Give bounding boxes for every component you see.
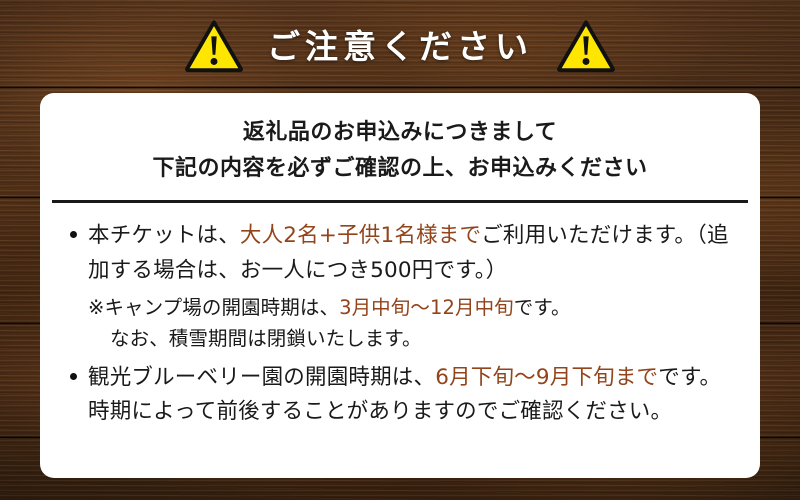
note-block: ※キャンプ場の開園時期は、3月中旬～12月中旬です。 なお、積雪期間は閉鎖いたし… (88, 293, 734, 355)
list-item-text: 観光ブルーベリー園の開園時期は、6月下旬～9月下旬までです。時期によって前後する… (88, 361, 734, 431)
card-heading-line-2: 下記の内容を必ずご確認の上、お申込みください (40, 151, 760, 187)
bullet-dot-icon (70, 231, 77, 238)
warning-triangle-icon (185, 19, 243, 73)
notice-body: 本チケットは、大人2名+子供1名様までご利用いただけます。（追加する場合は、お一… (40, 203, 760, 430)
list-item-text-pre: 本チケットは、 (88, 223, 240, 248)
bullet-dot-icon (70, 373, 77, 380)
list-item-highlight: 6月下旬～9月下旬まで (435, 365, 658, 390)
list-item-highlight: 大人2名+子供1名様まで (240, 223, 481, 248)
notice-banner: ご注意ください 返礼品のお申込みにつきまして 下記の内容を必ずご確認の上、お申込… (0, 0, 800, 500)
note-text-post: です。 (514, 296, 571, 319)
warning-triangle-icon (557, 19, 615, 73)
notice-card: 返礼品のお申込みにつきまして 下記の内容を必ずご確認の上、お申込みください 本チ… (40, 93, 760, 478)
list-item: 観光ブルーベリー園の開園時期は、6月下旬～9月下旬までです。時期によって前後する… (66, 361, 734, 431)
list-item-text-pre: 観光ブルーベリー園の開園時期は、 (88, 365, 435, 390)
card-heading: 返礼品のお申込みにつきまして 下記の内容を必ずご確認の上、お申込みください (40, 93, 760, 186)
list-item: 本チケットは、大人2名+子供1名様までご利用いただけます。（追加する場合は、お一… (66, 219, 734, 289)
note-subline: なお、積雪期間は閉鎖いたします。 (88, 324, 734, 355)
page-title: ご注意ください (267, 30, 533, 63)
list-item-text: 本チケットは、大人2名+子供1名様までご利用いただけます。（追加する場合は、お一… (88, 219, 734, 289)
note-text-pre: ※キャンプ場の開園時期は、 (88, 296, 339, 319)
banner-header: ご注意ください (0, 0, 800, 92)
card-heading-line-1: 返礼品のお申込みにつきまして (40, 115, 760, 151)
note-highlight: 3月中旬～12月中旬 (339, 296, 514, 319)
